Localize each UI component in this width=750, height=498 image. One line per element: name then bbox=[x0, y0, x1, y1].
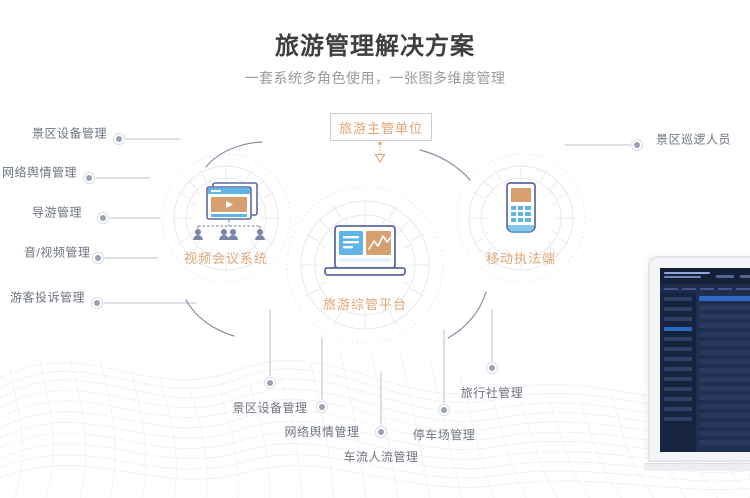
dashboard-subbar bbox=[660, 284, 750, 293]
node-mobile-enforcement[interactable]: 移动执法端 bbox=[455, 178, 587, 267]
dashboard-row[interactable] bbox=[699, 395, 750, 400]
dashboard-body bbox=[660, 293, 750, 452]
bottom-label-3[interactable]: 车流人流管理 bbox=[343, 448, 418, 465]
bottom-label-5[interactable]: 旅行社管理 bbox=[461, 384, 524, 401]
dashboard-row[interactable] bbox=[699, 305, 750, 310]
video-conference-icon bbox=[160, 178, 292, 240]
page-title: 旅游管理解决方案 bbox=[0, 26, 750, 61]
node-label-mobile-enforcement: 移动执法端 bbox=[455, 248, 587, 267]
dashboard-row[interactable] bbox=[699, 368, 750, 373]
dashboard-row[interactable] bbox=[699, 314, 750, 319]
laptop-screen-bezel bbox=[648, 256, 750, 462]
dashboard-row[interactable] bbox=[699, 413, 750, 418]
authority-box[interactable]: 旅游主管单位 bbox=[330, 113, 432, 141]
dashboard-row[interactable] bbox=[699, 332, 750, 337]
down-arrow-icon bbox=[370, 142, 390, 166]
dashboard-tabs[interactable] bbox=[716, 275, 750, 278]
infographic-canvas: 旅游管理解决方案 一套系统多角色使用，一张图多维度管理 bbox=[0, 0, 750, 498]
laptop-base bbox=[644, 463, 750, 471]
dashboard-row[interactable] bbox=[699, 422, 750, 427]
dashboard-row[interactable] bbox=[699, 377, 750, 382]
side-label-left-4[interactable]: 音/视频管理 bbox=[24, 244, 90, 261]
laptop-dashboard-icon bbox=[285, 222, 445, 286]
dashboard-sidebar[interactable] bbox=[660, 293, 696, 452]
bottom-label-2[interactable]: 网络舆情管理 bbox=[284, 423, 359, 440]
handheld-terminal-icon bbox=[455, 178, 587, 240]
bottom-label-1[interactable]: 景区设备管理 bbox=[232, 399, 307, 416]
dashboard-row[interactable] bbox=[699, 404, 750, 409]
dashboard-screen bbox=[660, 268, 750, 452]
dashboard-row[interactable] bbox=[699, 359, 750, 364]
side-label-left-1[interactable]: 景区设备管理 bbox=[32, 125, 107, 142]
dashboard-row[interactable] bbox=[699, 341, 750, 346]
side-label-left-3[interactable]: 导游管理 bbox=[32, 204, 82, 221]
laptop-mockup bbox=[648, 256, 750, 471]
node-tourism-platform[interactable]: 旅游综管平台 bbox=[285, 222, 445, 313]
side-label-left-2[interactable]: 网络舆情管理 bbox=[2, 164, 77, 181]
page-subtitle: 一套系统多角色使用，一张图多维度管理 bbox=[0, 68, 750, 88]
bottom-label-4[interactable]: 停车场管理 bbox=[413, 426, 476, 443]
node-label-video-conference: 视频会议系统 bbox=[160, 248, 292, 267]
dashboard-row[interactable] bbox=[699, 440, 750, 445]
side-label-left-5[interactable]: 游客投诉管理 bbox=[10, 289, 85, 306]
dashboard-row[interactable] bbox=[699, 323, 750, 328]
dashboard-row[interactable] bbox=[699, 350, 750, 355]
dashboard-row[interactable] bbox=[699, 296, 750, 301]
node-video-conference[interactable]: 视频会议系统 bbox=[160, 178, 292, 267]
dashboard-brand bbox=[664, 272, 710, 280]
dashboard-topbar bbox=[660, 268, 750, 284]
dashboard-row[interactable] bbox=[699, 431, 750, 436]
side-label-right-1[interactable]: 景区巡逻人员 bbox=[656, 131, 731, 148]
dashboard-main-panel bbox=[696, 293, 750, 452]
dashboard-row[interactable] bbox=[699, 386, 750, 391]
node-label-tourism-platform: 旅游综管平台 bbox=[285, 294, 445, 313]
